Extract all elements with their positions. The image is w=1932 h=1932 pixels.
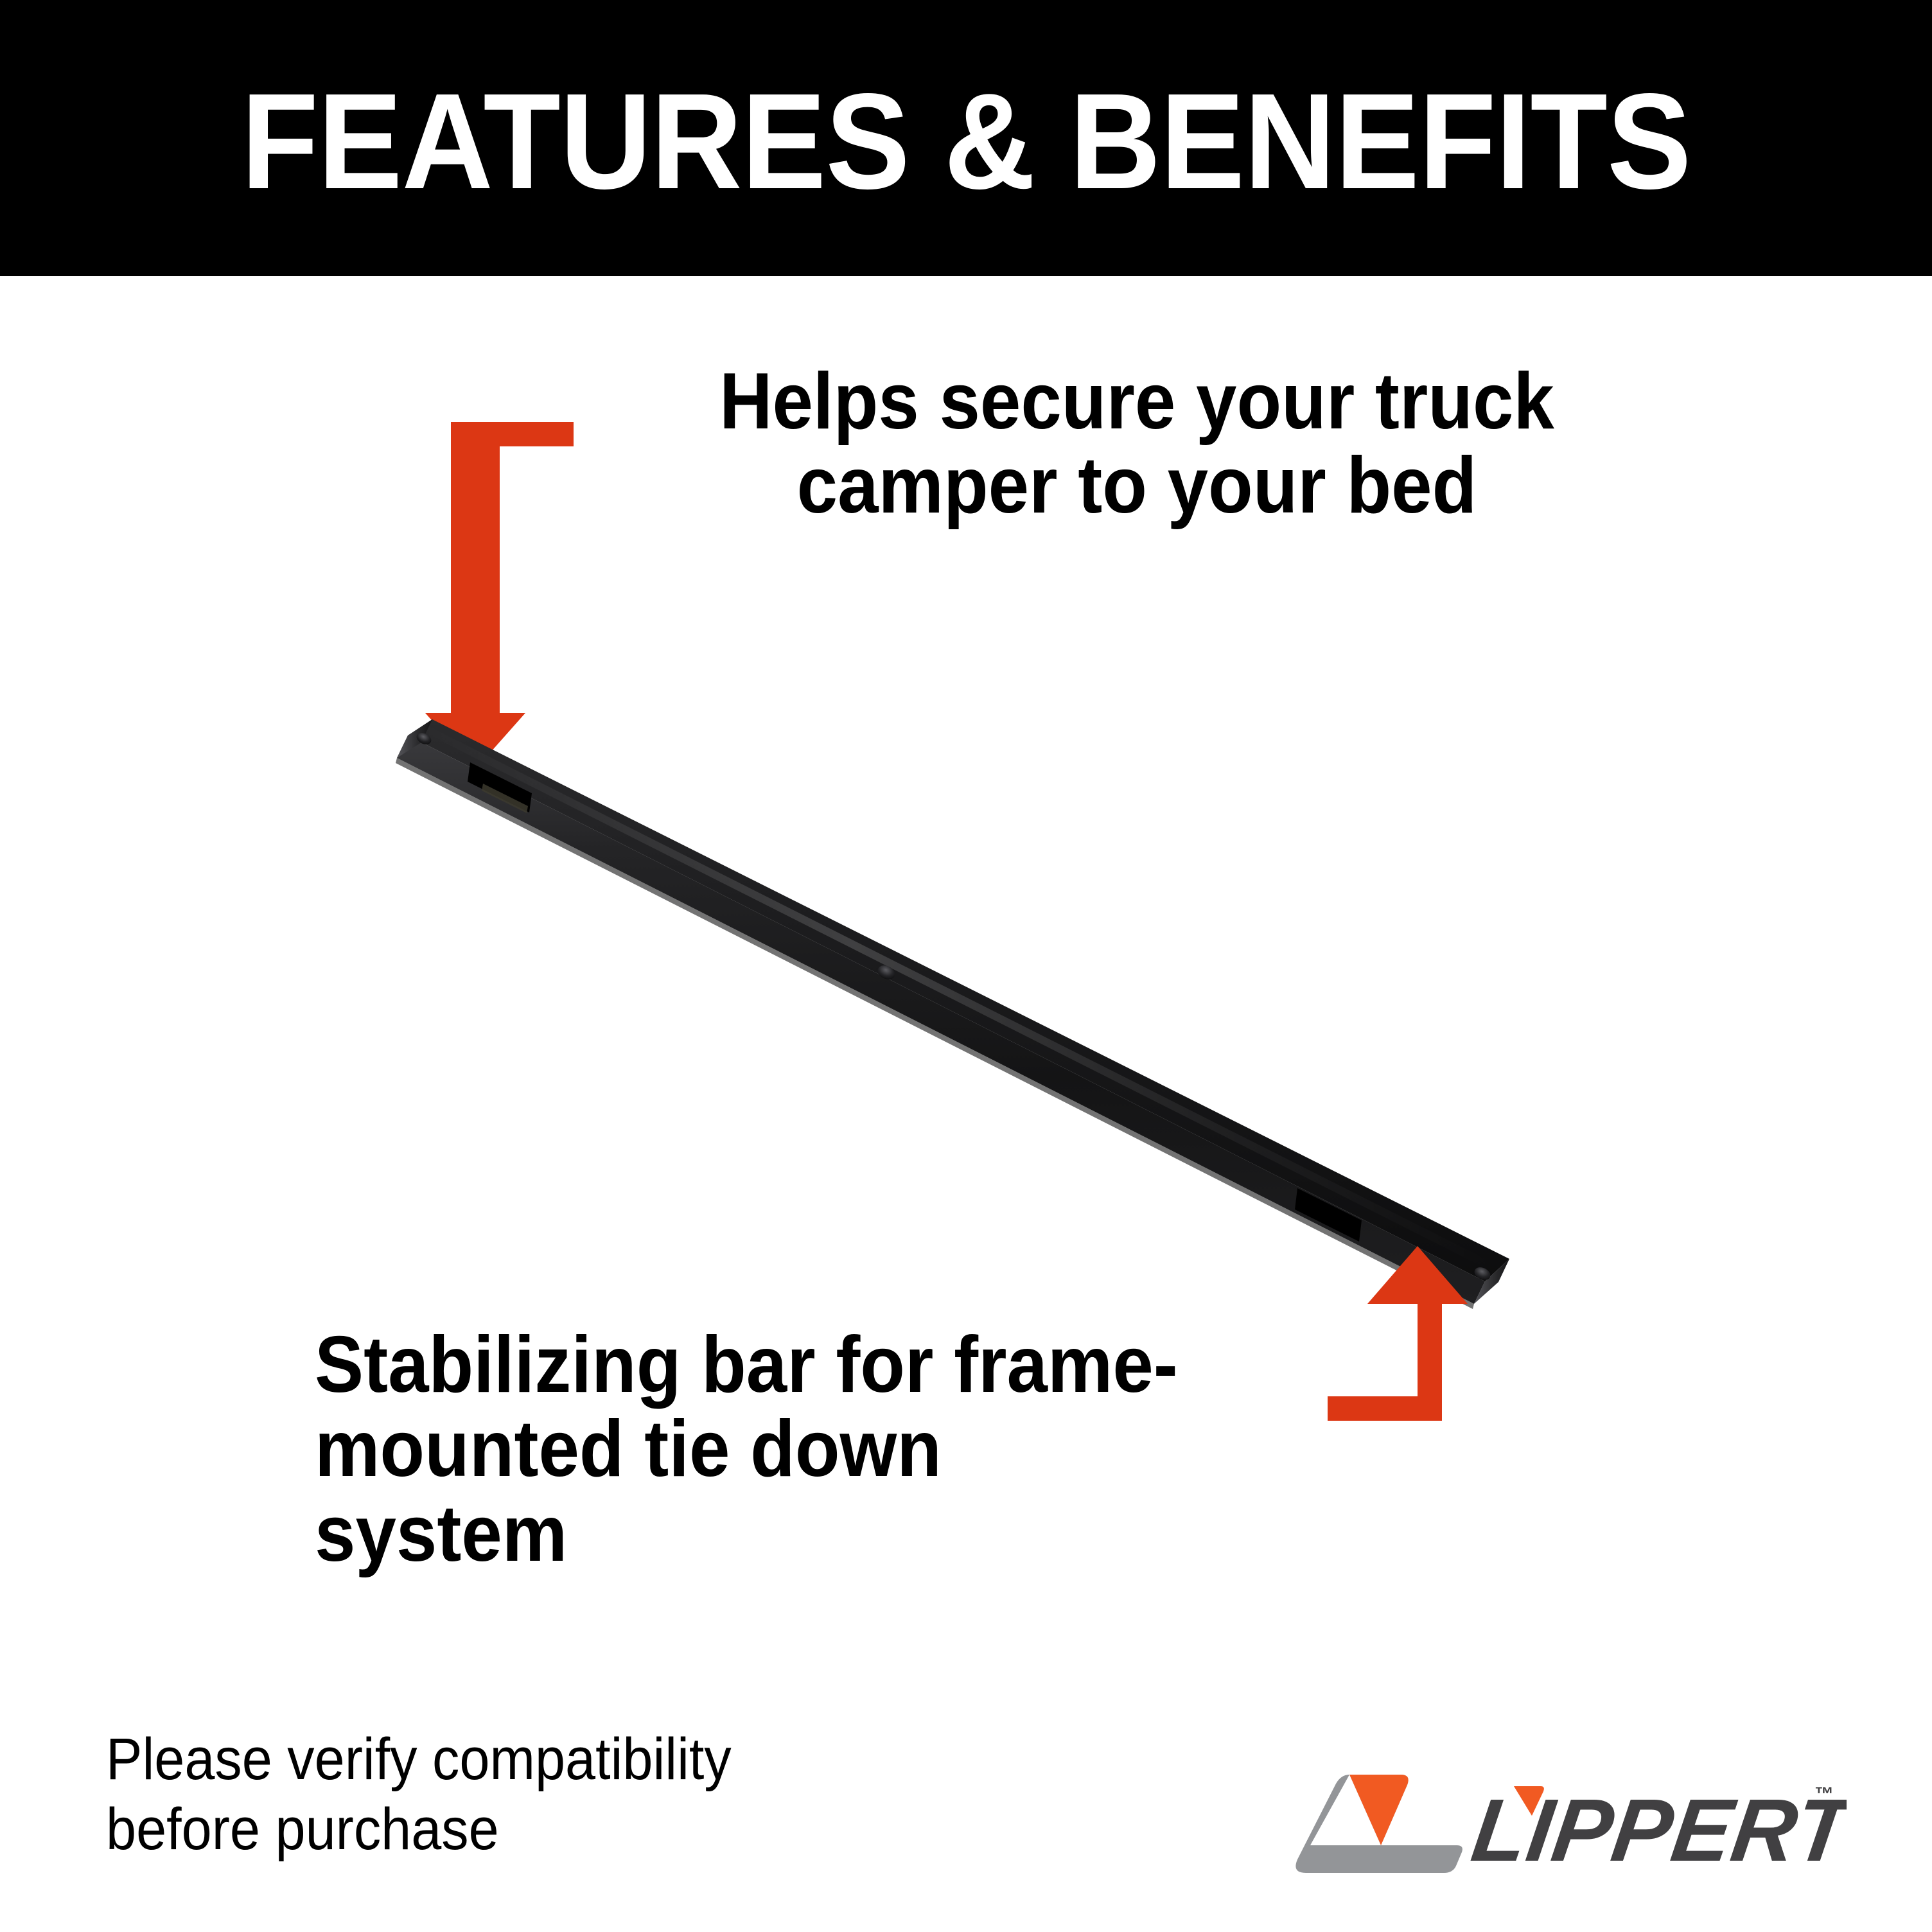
product-image-stabilizing-bar	[360, 700, 1516, 1317]
callout-text-top: Helps secure your truck camper to your b…	[717, 360, 1556, 529]
trademark-symbol: ™	[1814, 1784, 1834, 1805]
feature-benefits-infographic: FEATURES & BENEFITS Helps secure your tr…	[0, 0, 1932, 1932]
compatibility-note: Please verify compatibility before purch…	[106, 1725, 815, 1864]
arrow-up-icon	[1310, 1233, 1529, 1452]
lippert-logo: LIPPERT ™	[1275, 1770, 1847, 1879]
page-title: FEATURES & BENEFITS	[67, 0, 1864, 276]
bar-geometry	[396, 719, 1509, 1317]
callout-text-bottom: Stabilizing bar for frame- mounted tie d…	[315, 1323, 1213, 1576]
